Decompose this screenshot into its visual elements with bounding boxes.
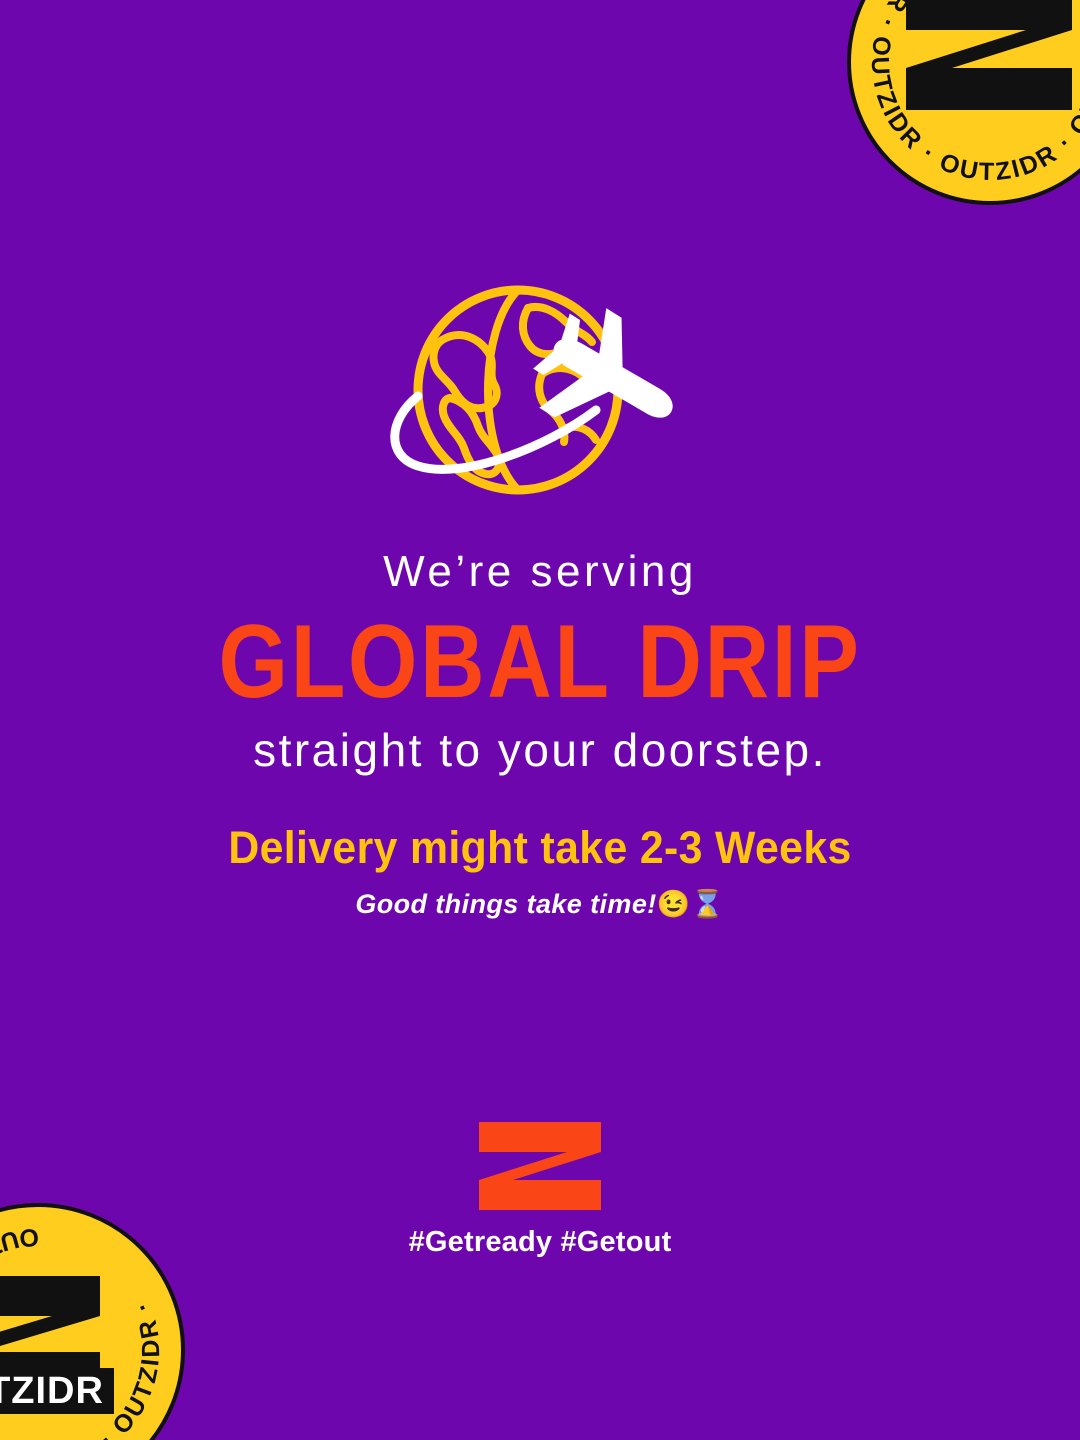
delivery-note-block: Delivery might take 2-3 Weeks Good thing…: [0, 822, 1080, 920]
badge-graphic: OUTZIDR · OUTZIDR · OUTZIDR · OUTZIDR · …: [0, 1200, 188, 1440]
badge-wordmark: OUTZIDR: [0, 1368, 114, 1414]
globe-with-airplane-icon: [370, 278, 710, 508]
badge-wordmark-text: OUTZIDR: [0, 1370, 104, 1412]
headline-line-global-drip: GLOBAL DRIP: [76, 608, 1005, 717]
delivery-subtext-label: Good things take time!: [355, 889, 656, 919]
headline-line-serving: We’re serving: [0, 548, 1080, 596]
headline-block: We’re serving GLOBAL DRIP straight to yo…: [0, 548, 1080, 776]
delivery-subtext: Good things take time!😉⌛: [0, 888, 1080, 920]
outzidr-sticker-badge-bottom-left: OUTZIDR · OUTZIDR · OUTZIDR · OUTZIDR · …: [0, 1200, 188, 1440]
headline-line-doorstep: straight to your doorstep.: [0, 724, 1080, 777]
hero-illustration: [0, 268, 1080, 518]
delivery-duration-text: Delivery might take 2-3 Weeks: [27, 822, 1053, 874]
poster-canvas: We’re serving GLOBAL DRIP straight to yo…: [0, 0, 1080, 1440]
outzidr-z-mark: [479, 1122, 601, 1210]
badge-graphic: OUTZIDR · OUTZIDR · OUTZIDR · OUTZIDR ·: [844, 0, 1080, 208]
wink-and-hourglass-emoji: 😉⌛: [657, 889, 725, 919]
outzidr-sticker-badge-top-right: OUTZIDR · OUTZIDR · OUTZIDR · OUTZIDR ·: [844, 0, 1080, 208]
